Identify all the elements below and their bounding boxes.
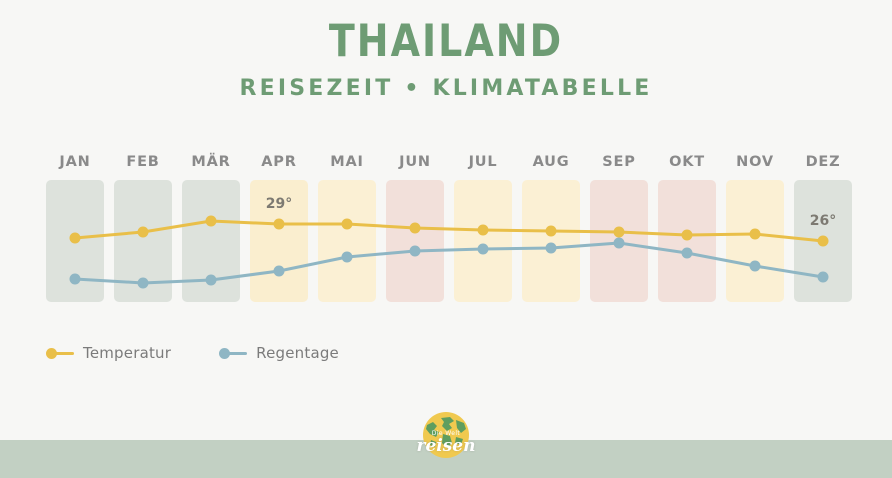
page-subtitle: REISEZEIT • KLIMATABELLE [0,78,892,100]
month-label-nov: NOV [726,154,784,170]
series-line-temperatur [75,221,823,241]
legend-label-regentage: Regentage [256,344,339,362]
data-point-temperatur-nov[interactable] [750,229,761,240]
data-point-temperatur-aug[interactable] [546,226,557,237]
temperature-legend-dot-icon [46,346,74,360]
data-point-temperatur-okt[interactable] [682,230,693,241]
data-point-regentage-jan[interactable] [70,274,81,285]
data-point-regentage-apr[interactable] [274,266,285,277]
data-point-regentage-feb[interactable] [138,278,149,289]
data-point-regentage-jul[interactable] [478,244,489,255]
month-label-jan: JAN [46,154,104,170]
month-label-mär: MÄR [182,154,240,170]
month-labels-row: JANFEBMÄRAPRMAIJUNJULAUGSEPOKTNOVDEZ [46,154,846,174]
month-label-dez: DEZ [794,154,852,170]
data-point-temperatur-feb[interactable] [138,227,149,238]
climate-chart-page: THAILAND REISEZEIT • KLIMATABELLE JANFEB… [0,0,892,478]
logo-wordmark: reisen [414,438,478,455]
month-label-aug: AUG [522,154,580,170]
legend-label-temperatur: Temperatur [83,344,171,362]
data-point-temperatur-mär[interactable] [206,216,217,227]
month-label-apr: APR [250,154,308,170]
data-point-regentage-mär[interactable] [206,275,217,286]
climate-chart: 29°26° [46,180,846,302]
page-title: THAILAND [0,18,892,63]
data-point-temperatur-jun[interactable] [410,223,421,234]
data-point-temperatur-dez[interactable] [818,236,829,247]
data-point-regentage-sep[interactable] [614,238,625,249]
legend-item-temperatur[interactable]: Temperatur [46,344,171,362]
data-point-temperatur-jul[interactable] [478,225,489,236]
month-label-okt: OKT [658,154,716,170]
data-point-regentage-dez[interactable] [818,272,829,283]
data-point-regentage-mai[interactable] [342,252,353,263]
series-line-regentage [75,243,823,283]
data-point-regentage-jun[interactable] [410,246,421,257]
legend-item-regentage[interactable]: Regentage [219,344,339,362]
month-label-jun: JUN [386,154,444,170]
month-label-feb: FEB [114,154,172,170]
month-label-sep: SEP [590,154,648,170]
data-point-regentage-nov[interactable] [750,261,761,272]
data-point-temperatur-sep[interactable] [614,227,625,238]
annotation-dez: 26° [794,213,852,229]
data-point-regentage-aug[interactable] [546,243,557,254]
globe-logo-icon: Die Welt reisen [414,412,478,468]
data-point-temperatur-apr[interactable] [274,219,285,230]
data-point-temperatur-jan[interactable] [70,233,81,244]
chart-legend: Temperatur Regentage [46,344,339,362]
data-point-regentage-okt[interactable] [682,248,693,259]
raindays-legend-dot-icon [219,346,247,360]
annotation-apr: 29° [250,196,308,212]
data-point-temperatur-mai[interactable] [342,219,353,230]
chart-plot [46,180,846,302]
month-label-mai: MAI [318,154,376,170]
month-label-jul: JUL [454,154,512,170]
page-header: THAILAND REISEZEIT • KLIMATABELLE [0,18,892,100]
